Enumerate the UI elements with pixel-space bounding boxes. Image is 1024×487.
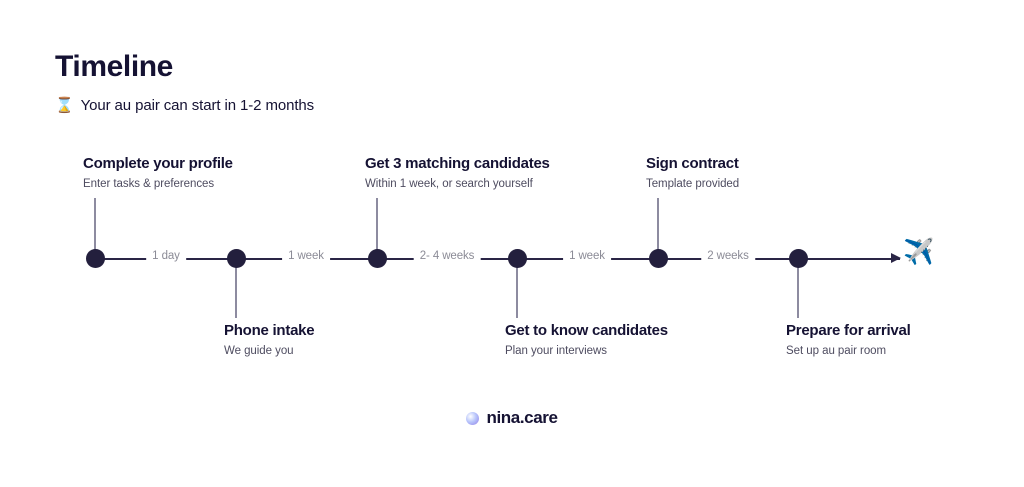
timeline-node-6[interactable] [789, 249, 808, 268]
subtitle: ⌛ Your au pair can start in 1-2 months [55, 97, 314, 114]
milestone-description: Within 1 week, or search yourself [365, 177, 550, 192]
node-stem-1 [94, 198, 95, 254]
milestone-1: Complete your profileEnter tasks & prefe… [83, 155, 233, 192]
milestone-title: Sign contract [646, 155, 739, 174]
milestone-title: Prepare for arrival [786, 322, 911, 341]
nina-care-logo-dot [466, 412, 479, 425]
milestone-title: Get 3 matching candidates [365, 155, 550, 174]
milestone-description: Enter tasks & preferences [83, 177, 233, 192]
milestone-title: Complete your profile [83, 155, 233, 174]
node-stem-2 [235, 264, 236, 318]
milestone-title: Phone intake [224, 322, 314, 341]
milestone-3: Get 3 matching candidatesWithin 1 week, … [365, 155, 550, 192]
interval-label-5: 2 weeks [701, 250, 755, 262]
axis-arrowhead [891, 253, 901, 263]
interval-label-1: 1 day [146, 250, 186, 262]
subtitle-text: Your au pair can start in 1-2 months [81, 97, 314, 114]
node-stem-3 [376, 198, 377, 254]
timeline-node-4[interactable] [508, 249, 527, 268]
airplane-icon: ✈️ [903, 240, 934, 265]
node-stem-5 [657, 198, 658, 254]
footer-logo: nina.care [0, 408, 1024, 428]
milestone-title: Get to know candidates [505, 322, 668, 341]
interval-label-4: 1 week [563, 250, 611, 262]
milestone-4: Get to know candidatesPlan your intervie… [505, 322, 668, 359]
page-title: Timeline [55, 50, 314, 83]
milestone-description: Set up au pair room [786, 344, 911, 359]
milestone-2: Phone intakeWe guide you [224, 322, 314, 359]
brand-wordmark: nina.care [486, 408, 557, 428]
timeline-node-5[interactable] [649, 249, 668, 268]
node-stem-6 [797, 264, 798, 318]
header: Timeline ⌛ Your au pair can start in 1-2… [55, 50, 314, 114]
milestone-description: Template provided [646, 177, 739, 192]
interval-label-2: 1 week [282, 250, 330, 262]
milestone-description: Plan your interviews [505, 344, 668, 359]
timeline-node-3[interactable] [368, 249, 387, 268]
timeline-node-1[interactable] [86, 249, 105, 268]
node-stem-4 [516, 264, 517, 318]
milestone-5: Sign contractTemplate provided [646, 155, 739, 192]
interval-label-3: 2- 4 weeks [414, 250, 481, 262]
timeline-axis [95, 258, 900, 260]
hourglass-icon: ⌛ [55, 98, 74, 113]
milestone-description: We guide you [224, 344, 314, 359]
milestone-6: Prepare for arrivalSet up au pair room [786, 322, 911, 359]
timeline-node-2[interactable] [227, 249, 246, 268]
